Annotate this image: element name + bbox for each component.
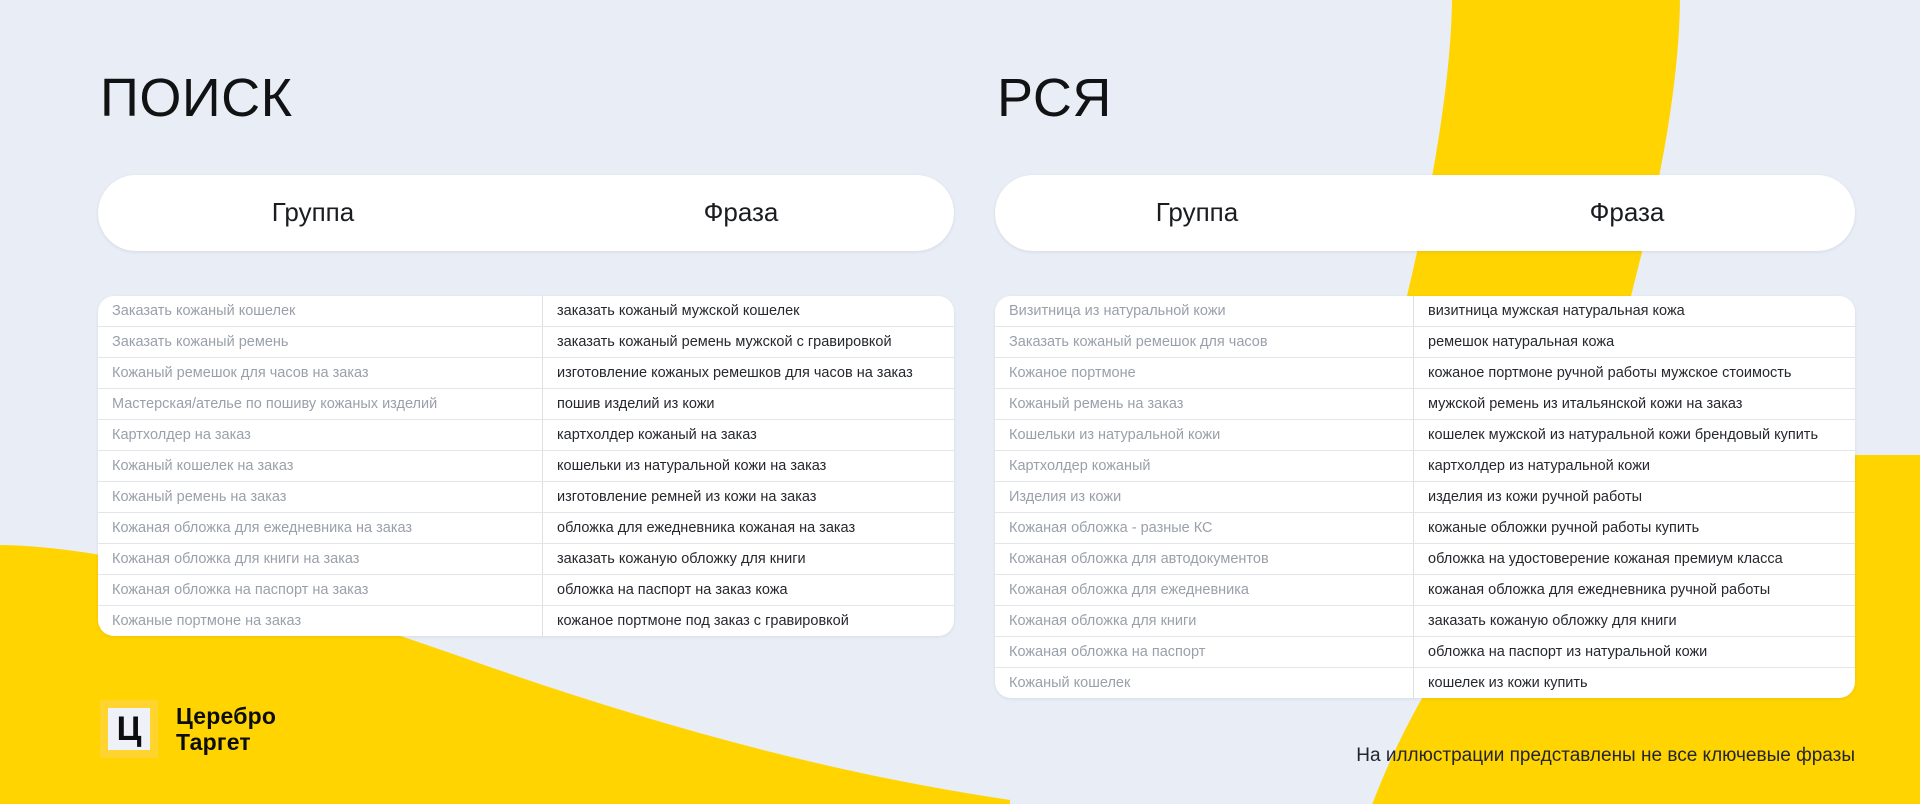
column-header-pill-poisk: Группа Фраза (98, 175, 954, 251)
cell-group: Заказать кожаный кошелек (98, 296, 543, 327)
table-row: Кожаная обложка для книги на заказзаказа… (98, 543, 954, 574)
panel-poisk: ПОИСК Группа Фраза Заказать кожаный коше… (98, 70, 960, 636)
keywords-table-body-rsya: Визитница из натуральной коживизитница м… (995, 296, 1855, 698)
brand-logo: Ц Церебро Таргет (100, 700, 276, 758)
keywords-table-card-poisk: Заказать кожаный кошелекзаказать кожаный… (98, 296, 954, 636)
table-row: Кошельки из натуральной кожикошелек мужс… (995, 419, 1855, 450)
table-row: Визитница из натуральной коживизитница м… (995, 296, 1855, 327)
column-header-pill-rsya: Группа Фраза (995, 175, 1855, 251)
cell-phrase: обложка на паспорт на заказ кожа (543, 574, 955, 605)
logo-wordmark: Церебро Таргет (176, 703, 276, 755)
keywords-table-card-rsya: Визитница из натуральной коживизитница м… (995, 296, 1855, 698)
cell-phrase: кошельки из натуральной кожи на заказ (543, 450, 955, 481)
table-row: Кожаная обложка на паспортобложка на пас… (995, 636, 1855, 667)
cell-phrase: визитница мужская натуральная кожа (1414, 296, 1856, 327)
cell-group: Кожаная обложка для книги (995, 605, 1414, 636)
cell-phrase: обложка на удостоверение кожаная премиум… (1414, 543, 1856, 574)
table-row: Заказать кожаный ремешок для часовремешо… (995, 326, 1855, 357)
table-row: Заказать кожаный кошелекзаказать кожаный… (98, 296, 954, 327)
logo-line-1: Церебро (176, 703, 276, 729)
cell-group: Кошельки из натуральной кожи (995, 419, 1414, 450)
cell-phrase: изделия из кожи ручной работы (1414, 481, 1856, 512)
cell-group: Кожаное портмоне (995, 357, 1414, 388)
panel-title-rsya: РСЯ (997, 70, 1855, 127)
keywords-table-poisk: Заказать кожаный кошелекзаказать кожаный… (98, 296, 954, 636)
cell-group: Кожаная обложка для ежедневника на заказ (98, 512, 543, 543)
table-row: Кожаный ремень на заказмужской ремень из… (995, 388, 1855, 419)
cell-phrase: заказать кожаный ремень мужской с гравир… (543, 326, 955, 357)
cell-group: Кожаный ремешок для часов на заказ (98, 357, 543, 388)
table-row: Кожаный кошелеккошелек из кожи купить (995, 667, 1855, 698)
keywords-table-body-poisk: Заказать кожаный кошелекзаказать кожаный… (98, 296, 954, 636)
cell-group: Картхолдер кожаный (995, 450, 1414, 481)
cell-group: Мастерская/ателье по пошиву кожаных изде… (98, 388, 543, 419)
table-row: Кожаная обложка для ежедневникакожаная о… (995, 574, 1855, 605)
cell-group: Визитница из натуральной кожи (995, 296, 1414, 327)
cell-phrase: кожаные обложки ручной работы купить (1414, 512, 1856, 543)
cell-phrase: заказать кожаную обложку для книги (1414, 605, 1856, 636)
logo-line-2: Таргет (176, 729, 276, 755)
keywords-table-rsya: Визитница из натуральной коживизитница м… (995, 296, 1855, 698)
cell-phrase: кожаное портмоне под заказ с гравировкой (543, 605, 955, 636)
cell-group: Картхолдер на заказ (98, 419, 543, 450)
table-row: Кожаная обложка на паспорт на заказоблож… (98, 574, 954, 605)
cell-phrase: заказать кожаную обложку для книги (543, 543, 955, 574)
table-row: Кожаный кошелек на заказкошельки из нату… (98, 450, 954, 481)
table-row: Заказать кожаный ременьзаказать кожаный … (98, 326, 954, 357)
cell-group: Кожаные портмоне на заказ (98, 605, 543, 636)
column-header-phrase: Фраза (1399, 197, 1855, 228)
slide-canvas: ПОИСК Группа Фраза Заказать кожаный коше… (0, 0, 1920, 804)
cell-phrase: кошелек мужской из натуральной кожи брен… (1414, 419, 1856, 450)
column-header-group: Группа (995, 197, 1399, 228)
panel-title-poisk: ПОИСК (100, 70, 960, 127)
cell-phrase: изготовление ремней из кожи на заказ (543, 481, 955, 512)
cell-group: Изделия из кожи (995, 481, 1414, 512)
cell-group: Кожаный кошелек на заказ (98, 450, 543, 481)
cell-group: Кожаный ремень на заказ (995, 388, 1414, 419)
cell-group: Кожаный ремень на заказ (98, 481, 543, 512)
panel-rsya: РСЯ Группа Фраза Визитница из натурально… (995, 70, 1855, 698)
table-row: Кожаная обложка для ежедневника на заказ… (98, 512, 954, 543)
cell-phrase: картхолдер из натуральной кожи (1414, 450, 1856, 481)
cell-group: Кожаная обложка для автодокументов (995, 543, 1414, 574)
table-row: Изделия из кожиизделия из кожи ручной ра… (995, 481, 1855, 512)
table-row: Кожаный ремешок для часов на заказизгото… (98, 357, 954, 388)
cell-phrase: кошелек из кожи купить (1414, 667, 1856, 698)
logo-mark-icon: Ц (100, 700, 158, 758)
cell-group: Кожаная обложка на паспорт на заказ (98, 574, 543, 605)
cell-group: Кожаная обложка на паспорт (995, 636, 1414, 667)
cell-phrase: изготовление кожаных ремешков для часов … (543, 357, 955, 388)
footnote-text: На иллюстрации представлены не все ключе… (1356, 745, 1855, 767)
cell-phrase: обложка на паспорт из натуральной кожи (1414, 636, 1856, 667)
table-row: Кожаная обложка для книгизаказать кожану… (995, 605, 1855, 636)
cell-phrase: заказать кожаный мужской кошелек (543, 296, 955, 327)
cell-phrase: кожаная обложка для ежедневника ручной р… (1414, 574, 1856, 605)
cell-phrase: пошив изделий из кожи (543, 388, 955, 419)
cell-phrase: обложка для ежедневника кожаная на заказ (543, 512, 955, 543)
cell-phrase: кожаное портмоне ручной работы мужское с… (1414, 357, 1856, 388)
table-row: Кожаный ремень на заказизготовление ремн… (98, 481, 954, 512)
table-row: Картхолдер кожаныйкартхолдер из натураль… (995, 450, 1855, 481)
cell-group: Заказать кожаный ремень (98, 326, 543, 357)
cell-phrase: ремешок натуральная кожа (1414, 326, 1856, 357)
table-row: Кожаная обложка - разные КСкожаные облож… (995, 512, 1855, 543)
table-row: Картхолдер на заказкартхолдер кожаный на… (98, 419, 954, 450)
cell-group: Кожаная обложка - разные КС (995, 512, 1414, 543)
cell-phrase: картхолдер кожаный на заказ (543, 419, 955, 450)
cell-group: Кожаная обложка для книги на заказ (98, 543, 543, 574)
cell-group: Кожаная обложка для ежедневника (995, 574, 1414, 605)
table-row: Кожаное портмонекожаное портмоне ручной … (995, 357, 1855, 388)
table-row: Мастерская/ателье по пошиву кожаных изде… (98, 388, 954, 419)
cell-group: Заказать кожаный ремешок для часов (995, 326, 1414, 357)
column-header-group: Группа (98, 197, 528, 228)
table-row: Кожаные портмоне на заказкожаное портмон… (98, 605, 954, 636)
cell-group: Кожаный кошелек (995, 667, 1414, 698)
cell-phrase: мужской ремень из итальянской кожи на за… (1414, 388, 1856, 419)
table-row: Кожаная обложка для автодокументовобложк… (995, 543, 1855, 574)
column-header-phrase: Фраза (528, 197, 954, 228)
logo-letter: Ц (108, 708, 150, 750)
